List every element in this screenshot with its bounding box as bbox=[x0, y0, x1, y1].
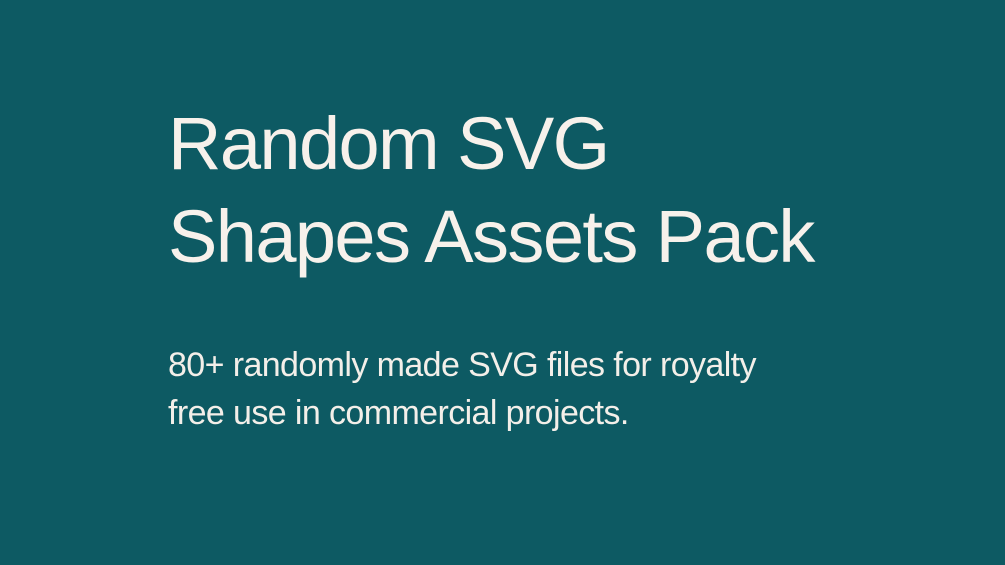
promo-slide: Random SVG Shapes Assets Pack 80+ random… bbox=[0, 0, 1005, 565]
page-title-line-1: Random SVG bbox=[168, 97, 814, 190]
page-title: Random SVG Shapes Assets Pack bbox=[168, 97, 814, 283]
page-subtitle: 80+ randomly made SVG files for royalty … bbox=[168, 341, 756, 437]
page-subtitle-line-1: 80+ randomly made SVG files for royalty bbox=[168, 341, 756, 389]
page-subtitle-line-2: free use in commercial projects. bbox=[168, 389, 756, 437]
page-title-line-2: Shapes Assets Pack bbox=[168, 190, 814, 283]
